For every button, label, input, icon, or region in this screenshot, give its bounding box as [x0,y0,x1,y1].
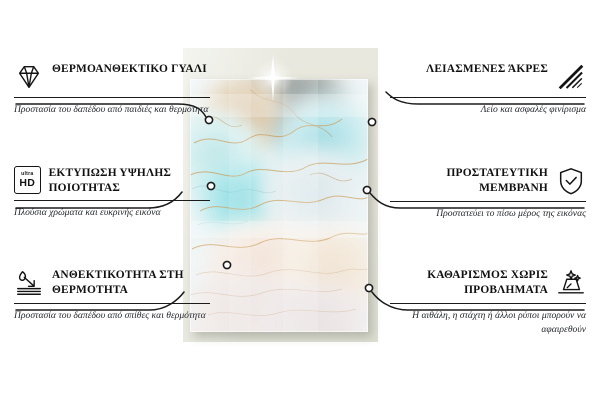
feature-subtitle: Προστασία του δαπέδου από παιδιές και θε… [14,103,210,117]
divider [14,200,210,201]
feature-title: ΚΑΘΑΡΙΣΜΟΣ ΧΩΡΙΣ ΠΡΟΒΛΗΜΑΤΑ [390,268,548,297]
diagonal-stripes-icon [556,62,586,92]
diamond-icon [14,62,44,92]
feature-title: ΛΕΙΑΣΜΕΝΕΣ ΆΚΡΕΣ [426,62,548,77]
feature-subtitle: Προστατεύει το πίσω μέρος της εικόνας [390,207,586,221]
ultra-hd-badge-icon: ultra HD [14,166,41,194]
shield-check-icon [556,166,586,196]
feature-title: ΘΕΡΜΟΑΝΘΕΚΤΙΚΟ ΓΥΑΛΙ [52,62,207,77]
divider [390,97,586,98]
divider [390,201,586,202]
feature-heat-durability: ΑΝΘΕΚΤΙΚΟΤΗΤΑ ΣΤΗ ΘΕΡΜΟΤΗΤΑ Προστασία το… [14,268,210,323]
feature-title: ΕΚΤΥΠΩΣΗ ΥΨΗΛΗΣ ΠΟΙΟΤΗΤΑΣ [49,166,210,195]
flame-deflect-icon [14,268,44,298]
feature-polished-edges: ΛΕΙΑΣΜΕΝΕΣ ΆΚΡΕΣ Λείο και ασφαλές φινίρι… [390,62,586,117]
feature-easy-cleaning: ΚΑΘΑΡΙΣΜΟΣ ΧΩΡΙΣ ΠΡΟΒΛΗΜΑΤΑ Η αιθάλη, η … [390,268,586,336]
sparkle-sponge-icon [556,268,586,298]
divider [390,303,586,304]
feature-subtitle: Πλούσια χρώματα και ευκρινής εικόνα [14,206,210,220]
feature-protective-membrane: ΠΡΟΣΤΑΤΕΥΤΙΚΗ ΜΕΜΒΡΑΝΗ Προστατεύει το πί… [390,166,586,221]
badge-hd-label: HD [19,178,35,189]
feature-subtitle: Λείο και ασφαλές φινίρισμα [390,103,586,117]
feature-high-quality-print: ultra HD ΕΚΤΥΠΩΣΗ ΥΨΗΛΗΣ ΠΟΙΟΤΗΤΑΣ Πλούσ… [14,166,210,220]
feature-title: ΠΡΟΣΤΑΤΕΥΤΙΚΗ ΜΕΜΒΡΑΝΗ [390,166,548,195]
feature-title: ΑΝΘΕΚΤΙΚΟΤΗΤΑ ΣΤΗ ΘΕΡΜΟΤΗΤΑ [52,268,210,297]
divider [14,97,210,98]
feature-heat-resistant-glass: ΘΕΡΜΟΑΝΘΕΚΤΙΚΟ ΓΥΑΛΙ Προστασία του δαπέδ… [14,62,210,117]
infographic-canvas: ΘΕΡΜΟΑΝΘΕΚΤΙΚΟ ΓΥΑΛΙ Προστασία του δαπέδ… [0,0,600,400]
divider [14,303,210,304]
feature-subtitle: Προστασία του δαπέδου από σπίθες και θερ… [14,309,210,323]
feature-subtitle: Η αιθάλη, η στάχτη ή άλλοι ρύποι μπορούν… [390,309,586,336]
